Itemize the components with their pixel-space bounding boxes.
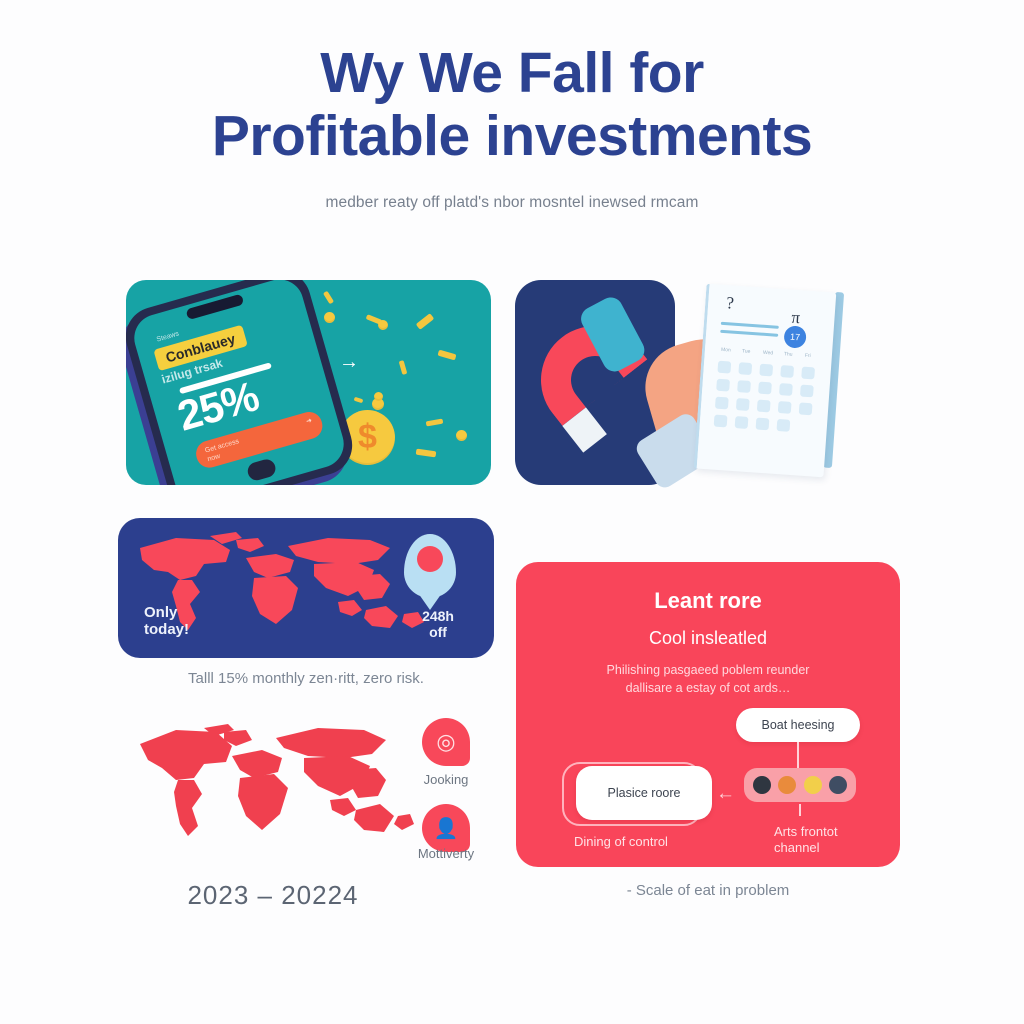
red-panel-body: Philishing pasgaeed poblem reunder dalli… <box>546 661 870 697</box>
confetti-piece <box>399 360 408 375</box>
calendar-line <box>720 330 778 337</box>
title-line-1: Wy We Fall for <box>320 41 704 105</box>
connector-line <box>797 742 799 768</box>
confetti-piece <box>426 419 444 427</box>
calendar-header-cell: Thu <box>784 351 793 358</box>
offer-duration-label: 248h off <box>422 608 454 640</box>
calendar-document: ? π 17 Mon Tue Wed Thu Fri <box>700 288 830 473</box>
world-map-stats <box>128 712 418 862</box>
only-today-label: Only today! <box>144 604 189 638</box>
calendar-day-badge: 17 <box>783 325 806 348</box>
red-panel-caption: - Scale of eat in problem <box>516 882 900 899</box>
calendar-mark-left: ? <box>726 293 735 313</box>
page-subtitle: medber reaty off platd's nbor mosntel in… <box>0 194 1024 212</box>
red-panel-subhead: Cool insleatled <box>516 628 900 649</box>
calendar-header-cell: Fri <box>805 353 811 359</box>
coin <box>456 430 467 441</box>
screen-tiny-text: Steaws <box>156 330 180 343</box>
label-dining-of-control: Dining of control <box>574 834 668 850</box>
home-indicator <box>246 457 278 482</box>
phone-notch <box>185 294 244 321</box>
avatar <box>778 776 796 794</box>
pill-plasice-roore[interactable]: Plasice roore <box>576 766 712 820</box>
phishing-problem-panel: Leant rore Cool insleatled Philishing pa… <box>516 562 900 867</box>
smartphone-mockup: Steaws Conblauey izilug trsak 25% Get ac… <box>126 280 359 485</box>
title-line-2: Profitable investments <box>212 104 812 168</box>
location-pin-icon <box>404 534 456 598</box>
calendar-page: ? π 17 Mon Tue Wed Thu Fri <box>694 284 837 478</box>
infographic-page: Wy We Fall for Profitable investments me… <box>0 0 1024 1024</box>
pin-point <box>416 590 444 610</box>
icon-label-mottiverty: Mottiverty <box>406 846 486 861</box>
calendar-header-cell: Wed <box>763 350 774 357</box>
arrow-right-icon: → <box>339 352 359 372</box>
avatar <box>829 776 847 794</box>
phone-screen: Steaws Conblauey izilug trsak 25% Get ac… <box>129 280 350 485</box>
connector-line <box>799 804 801 816</box>
calendar-line <box>721 322 779 329</box>
confetti-piece <box>416 449 437 458</box>
calendar-header-cell: Tue <box>742 348 751 355</box>
confetti-piece <box>354 397 364 404</box>
coin-dollar-symbol: $ <box>358 418 377 457</box>
coin <box>378 320 388 330</box>
navy-panel-caption: Talll 15% monthly zen·ritt, zero risk. <box>118 670 494 687</box>
arrow-circle-icon: ➜ <box>305 416 313 426</box>
coin <box>374 392 383 401</box>
year-range-label: 2023 – 20224 <box>128 880 418 911</box>
pill-boat-heesing[interactable]: Boat heesing <box>736 708 860 742</box>
red-panel-headline: Leant rore <box>516 588 900 614</box>
confetti-piece <box>323 291 334 305</box>
arrow-left-icon: ← <box>716 784 735 803</box>
label-arts-frontot-channel: Arts frontot channel <box>774 824 838 856</box>
page-title: Wy We Fall for Profitable investments <box>0 42 1024 168</box>
avatar <box>753 776 771 794</box>
screen-cta-label: Get access now <box>204 437 243 464</box>
confetti-piece <box>416 313 434 330</box>
header: Wy We Fall for Profitable investments me… <box>0 42 1024 212</box>
world-map-graphic-2 <box>128 712 418 862</box>
person-bubble-icon[interactable]: 👤 <box>422 804 470 852</box>
icon-label-jooking: Jooking <box>406 772 486 787</box>
coin <box>324 312 335 323</box>
promo-phone-panel: $ → Steaws Conblauey izilug trsak 25% Ge… <box>126 280 491 485</box>
phone-body: Steaws Conblauey izilug trsak 25% Get ac… <box>126 280 359 485</box>
confetti-piece <box>438 350 457 361</box>
avatar <box>804 776 822 794</box>
world-map-offer-panel: Only today! 248h off <box>118 518 494 658</box>
avatar-group[interactable] <box>744 768 856 802</box>
search-bubble-icon[interactable]: ◎ <box>422 718 470 766</box>
pin-center-dot <box>417 546 443 572</box>
calendar-header-cell: Mon <box>721 347 731 354</box>
